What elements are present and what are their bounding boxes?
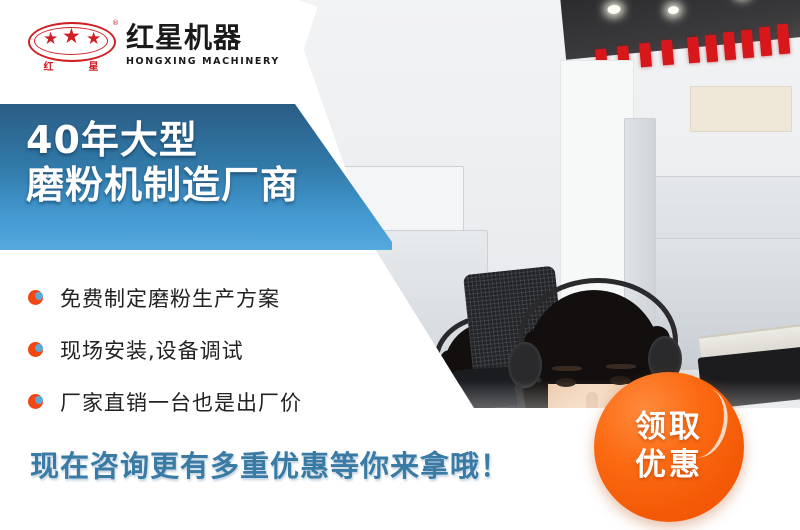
bullet-dot-icon (28, 290, 44, 306)
list-item: 厂家直销一台也是出厂价 (28, 376, 368, 428)
brand-name-en: HONGXING MACHINERY (126, 56, 280, 67)
list-item: 免费制定磨粉生产方案 (28, 272, 368, 324)
promo-banner: ★ ★ ★ ® 红 星 红星机器 HONGXING MACHINERY 40年大… (0, 0, 800, 530)
headline-line-1: 40年大型 (26, 118, 356, 163)
headline-line-2: 磨粉机制造厂商 (26, 163, 356, 208)
registered-mark: ® (112, 19, 119, 27)
brand-name-cn: 红星机器 (126, 24, 280, 52)
cta-line-1: 领取 (635, 409, 703, 447)
brand-logo[interactable]: ★ ★ ★ ® 红 星 红星机器 HONGXING MACHINERY (26, 18, 280, 72)
headline-text: 40年大型 磨粉机制造厂商 (26, 118, 356, 208)
bullet-dot-icon (28, 394, 44, 410)
logo-char-right: 星 (89, 58, 99, 73)
bottom-slogan: 现在咨询更有多重优惠等你来拿哦！ (30, 443, 510, 485)
headset-earcup-icon (426, 366, 452, 400)
feature-list: 免费制定磨粉生产方案 现场安装,设备调试 厂家直销一台也是出厂价 (28, 272, 368, 428)
feature-label: 厂家直销一台也是出厂价 (60, 387, 302, 417)
claim-offer-button[interactable]: 领取 优惠 (594, 372, 744, 522)
three-star-oval-icon: ★ ★ ★ ® 红 星 (26, 18, 116, 72)
feature-label: 免费制定磨粉生产方案 (60, 283, 280, 313)
bullet-dot-icon (28, 342, 44, 358)
list-item: 现场安装,设备调试 (28, 324, 368, 376)
feature-label: 现场安装,设备调试 (60, 335, 244, 365)
headset-earcup-icon (508, 342, 542, 388)
logo-char-left: 红 (44, 58, 54, 73)
cta-line-2: 优惠 (635, 447, 703, 485)
